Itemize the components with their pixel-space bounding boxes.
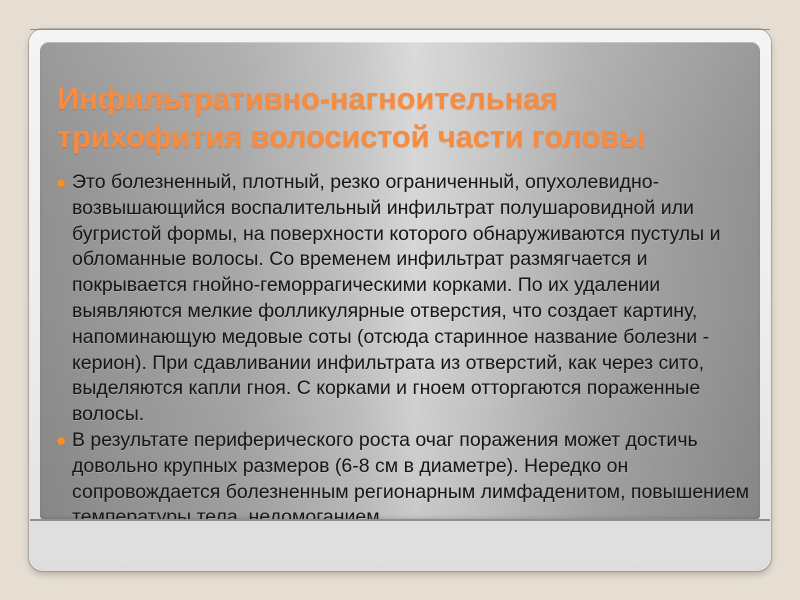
slide-title: Инфильтративно-нагноительная трихофития … <box>57 80 747 156</box>
slide-body: Это болезненный, плотный, резко ограниче… <box>56 170 754 519</box>
bullet-dot-icon <box>57 179 65 187</box>
list-item: Это болезненный, плотный, резко ограниче… <box>56 170 754 428</box>
list-item-text: Это болезненный, плотный, резко ограниче… <box>72 170 754 428</box>
list-item-text: В результате периферического роста очаг … <box>72 428 754 519</box>
bullet-dot-icon <box>57 437 65 445</box>
list-item: В результате периферического роста очаг … <box>56 428 754 519</box>
frame-top-hairline <box>30 29 770 30</box>
slide-footer-area <box>30 521 770 570</box>
slide-stage: Инфильтративно-нагноительная трихофития … <box>0 0 800 600</box>
slide-content-panel: Инфильтративно-нагноительная трихофития … <box>40 42 760 519</box>
